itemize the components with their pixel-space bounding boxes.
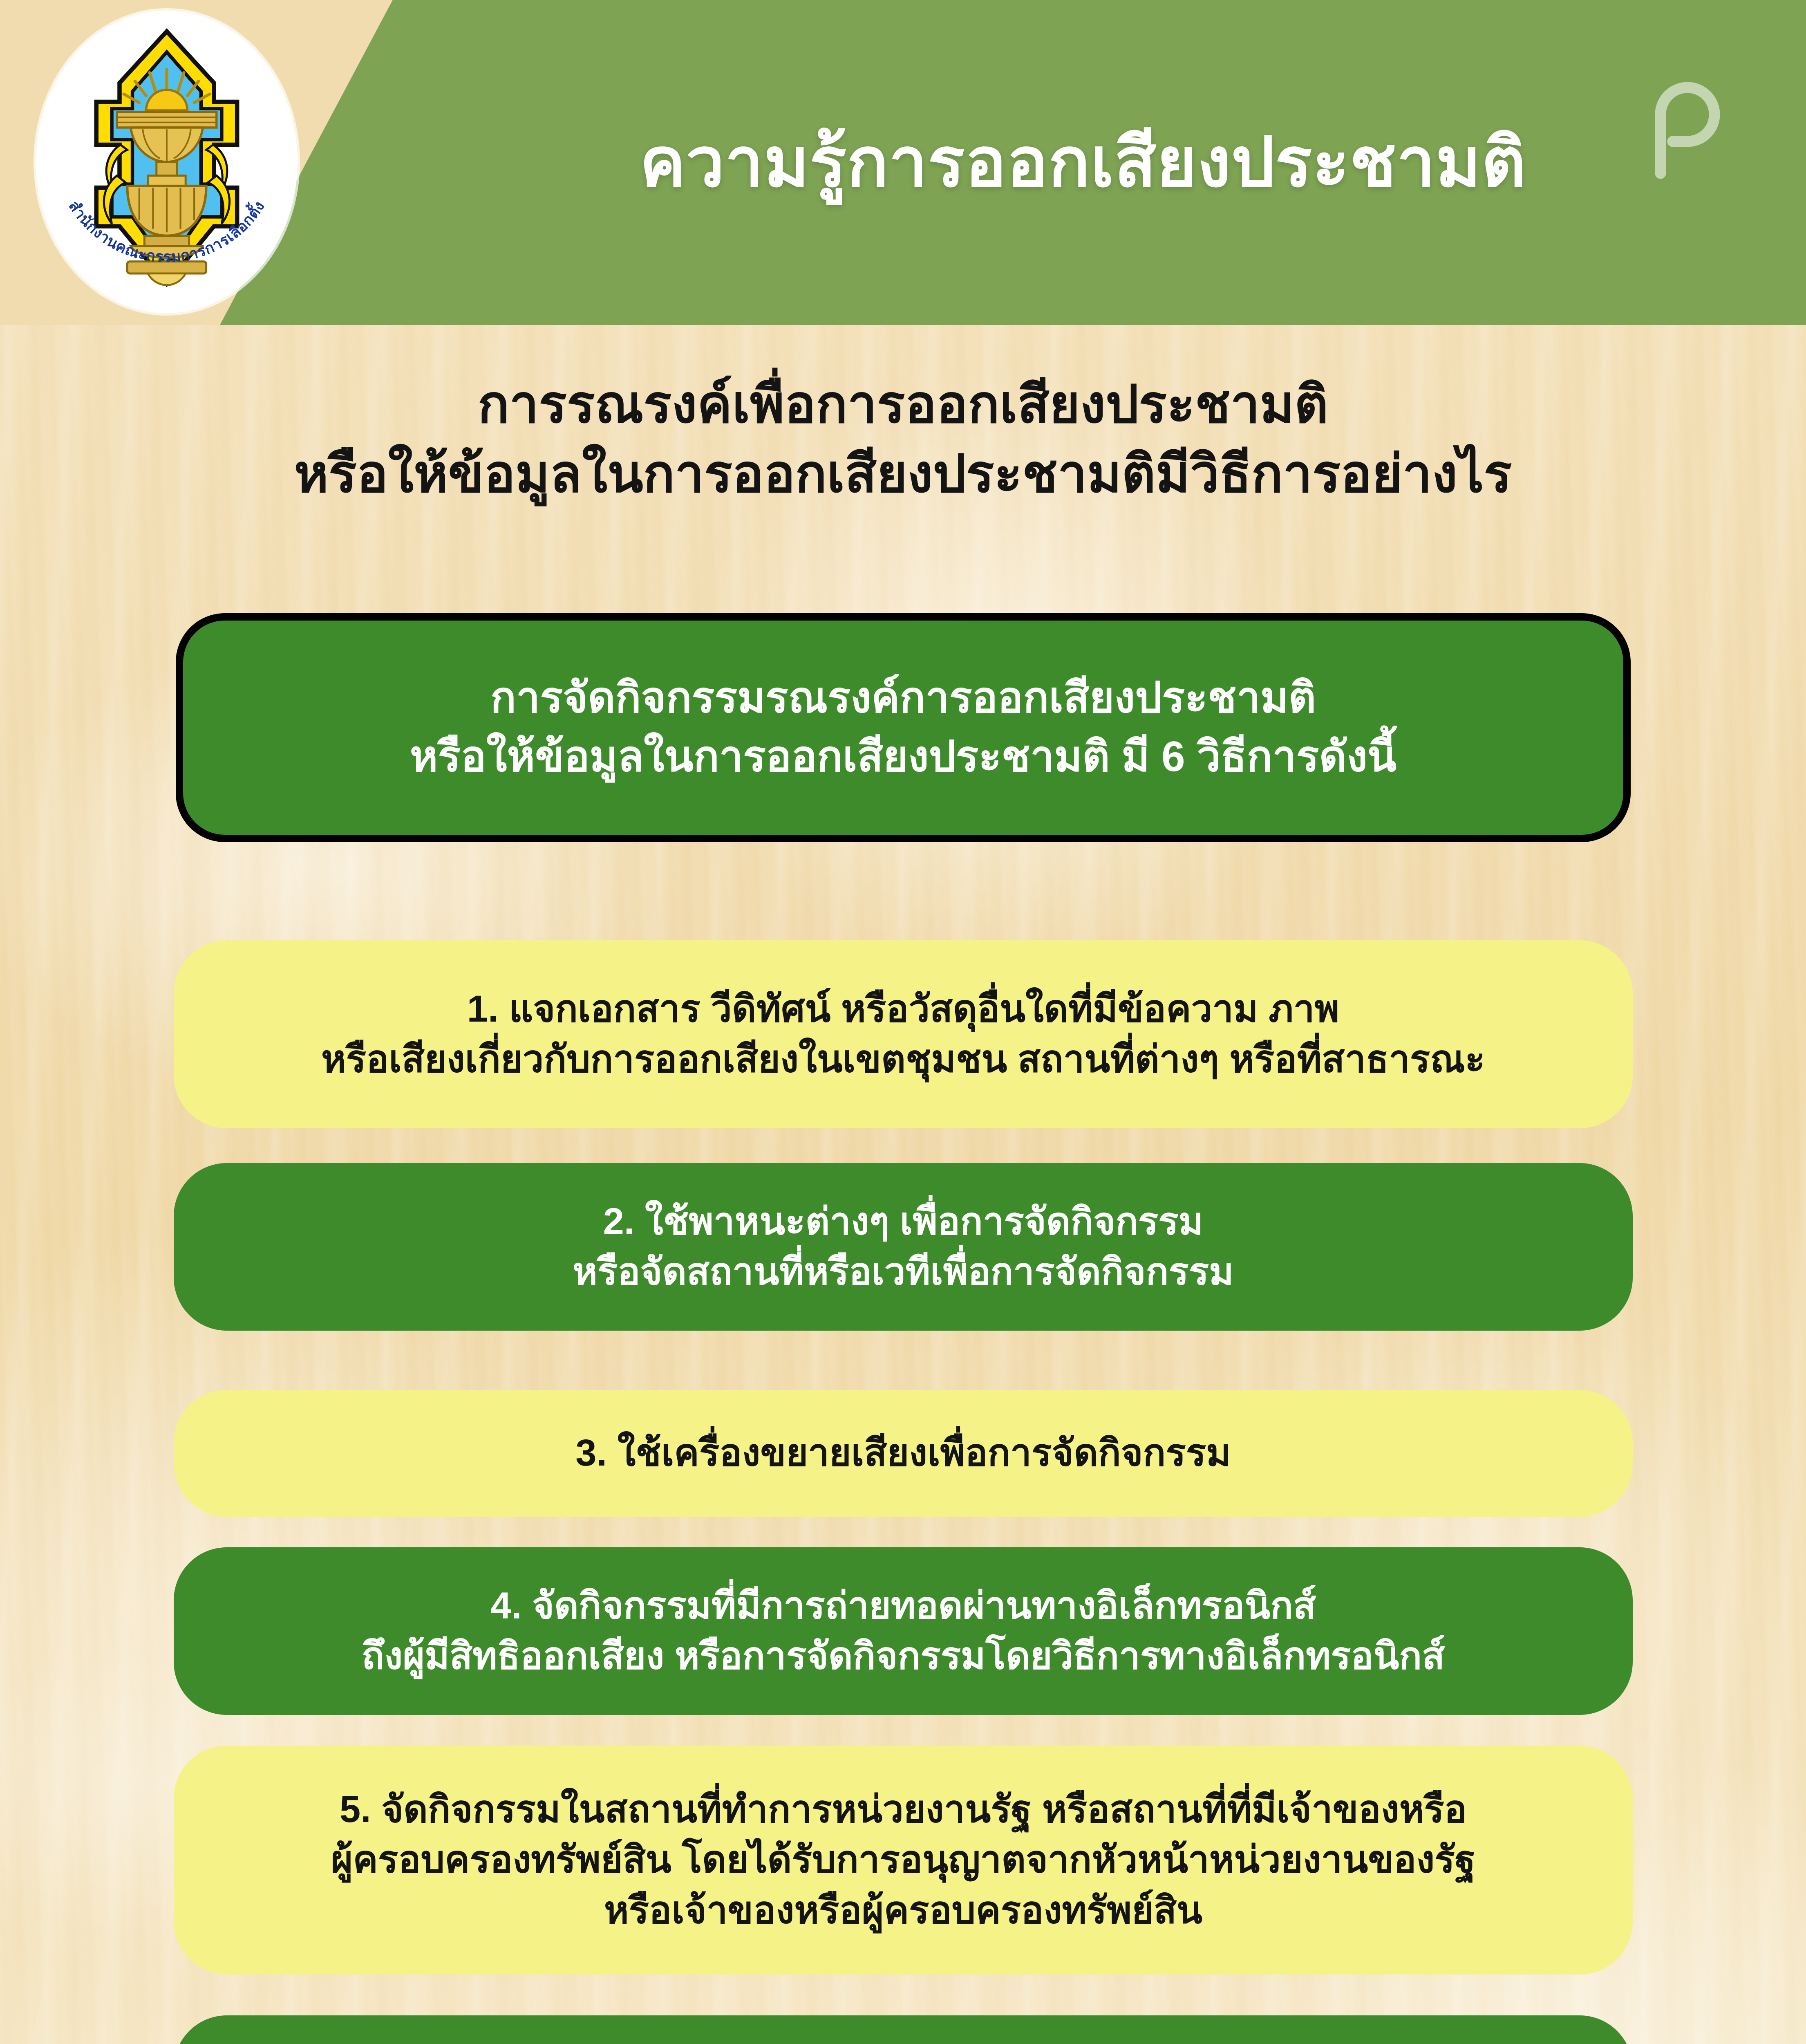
intro-line-1: การจัดกิจกรรมรณรงค์การออกเสียงประชามติ: [490, 669, 1316, 728]
question-line-2: หรือให้ข้อมูลในการออกเสียงประชามติมีวิธี…: [25, 439, 1781, 509]
poster-root: ความรู้การออกเสียงประชามติ: [0, 0, 1806, 2044]
method-5-line-2: ผู้ครอบครองทรัพย์สิน โดยได้รับการอนุญาตจ…: [331, 1835, 1475, 1885]
main-question: การรณรงค์เพื่อการออกเสียงประชามติ หรือให…: [25, 370, 1781, 509]
intro-line-2: หรือให้ข้อมูลในการออกเสียงประชามติ มี 6 …: [410, 728, 1396, 787]
intro-callout-box: การจัดกิจกรรมรณรงค์การออกเสียงประชามติ ห…: [176, 613, 1631, 842]
method-item-5: 5. จัดกิจกรรมในสถานที่ทำการหน่วยงานรัฐ ห…: [174, 1746, 1633, 1975]
method-4-line-2: ถึงผู้มีสิทธิออกเสียง หรือการจัดกิจกรรมโ…: [362, 1631, 1445, 1681]
method-2-line-1: 2. ใช้พาหนะต่างๆ เพื่อการจัดกิจกรรม: [603, 1197, 1204, 1247]
question-line-1: การรณรงค์เพื่อการออกเสียงประชามติ: [25, 370, 1781, 439]
method-3-line-1: 3. ใช้เครื่องขยายเสียงเพื่อการจัดกิจกรรม: [575, 1428, 1231, 1478]
method-item-2: 2. ใช้พาหนะต่างๆ เพื่อการจัดกิจกรรม หรือ…: [174, 1163, 1633, 1331]
method-5-line-3: หรือเจ้าของหรือผู้ครอบครองทรัพย์สิน: [604, 1885, 1202, 1936]
ect-seal-logo: สำนักงานคณะกรรมการการเลือกตั้ง: [36, 11, 298, 313]
method-1-line-1: 1. แจกเอกสาร วีดิทัศน์ หรือวัสดุอื่นใดที…: [467, 984, 1339, 1034]
method-1-line-2: หรือเสียงเกี่ยวกับการออกเสียงในเขตชุมชน …: [321, 1034, 1485, 1085]
method-item-6: 6. จัดกิจกรรมโดยวิธีการเดินขบวนหรือเคลื่…: [174, 2015, 1633, 2044]
method-item-4: 4. จัดกิจกรรมที่มีการถ่ายทอดผ่านทางอิเล็…: [174, 1547, 1633, 1715]
method-4-line-1: 4. จัดกิจกรรมที่มีการถ่ายทอดผ่านทางอิเล็…: [490, 1581, 1316, 1631]
method-item-3: 3. ใช้เครื่องขยายเสียงเพื่อการจัดกิจกรรม: [174, 1390, 1633, 1517]
ect-emblem-icon: สำนักงานคณะกรรมการการเลือกตั้ง: [38, 13, 295, 311]
page-title: ความรู้การออกเสียงประชามติ: [433, 0, 1733, 325]
method-2-line-2: หรือจัดสถานที่หรือเวทีเพื่อการจัดกิจกรรม: [573, 1247, 1234, 1297]
method-item-1: 1. แจกเอกสาร วีดิทัศน์ หรือวัสดุอื่นใดที…: [174, 940, 1633, 1128]
method-5-line-1: 5. จัดกิจกรรมในสถานที่ทำการหน่วยงานรัฐ ห…: [340, 1784, 1467, 1835]
